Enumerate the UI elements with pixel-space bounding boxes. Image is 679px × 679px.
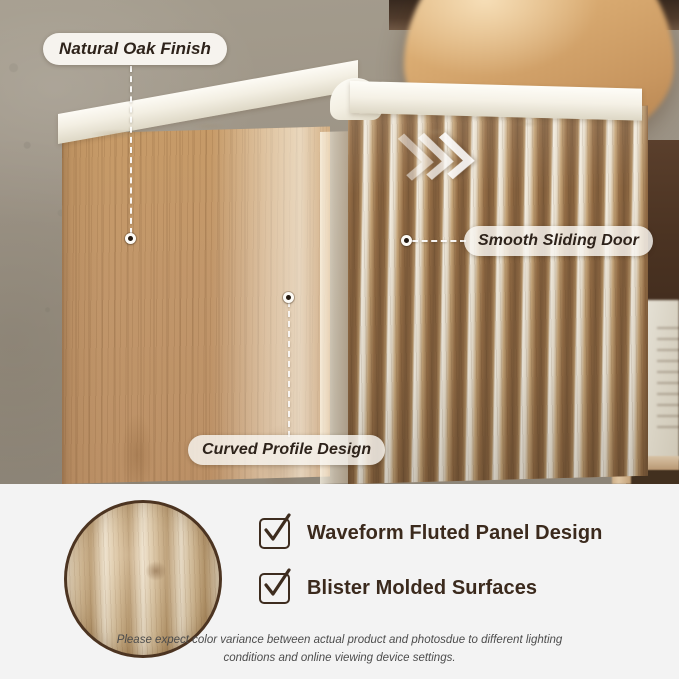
- callout-leader-line-door: [412, 240, 466, 242]
- color-variance-disclaimer: Please expect color variance between act…: [0, 632, 679, 668]
- product-feature-image: Natural Oak Finish Smooth Sliding Door C…: [0, 0, 679, 679]
- info-panel: Waveform Fluted Panel Design Blister Mol…: [0, 484, 679, 679]
- marble-countertop: [58, 94, 638, 152]
- check-icon: [259, 518, 290, 549]
- wood-knot: [120, 411, 154, 484]
- callout-label-smooth-sliding-door: Smooth Sliding Door: [464, 226, 653, 256]
- marble-veining: [58, 112, 638, 148]
- callout-label-curved-profile-design: Curved Profile Design: [188, 435, 385, 465]
- feature-label: Blister Molded Surfaces: [307, 577, 537, 600]
- slide-direction-arrows: [392, 130, 488, 177]
- feature-item: Blister Molded Surfaces: [259, 573, 602, 604]
- cabinet: [62, 96, 632, 484]
- callout-label-natural-oak-finish: Natural Oak Finish: [43, 33, 227, 65]
- feature-list: Waveform Fluted Panel Design Blister Mol…: [259, 518, 602, 628]
- callout-dot-curved: [283, 292, 294, 303]
- callout-leader-line-oak: [130, 66, 132, 234]
- callout-leader-line-curved: [288, 301, 290, 437]
- callout-dot-door: [401, 235, 412, 246]
- feature-item: Waveform Fluted Panel Design: [259, 518, 602, 549]
- product-photo: Natural Oak Finish Smooth Sliding Door C…: [0, 0, 679, 484]
- callout-dot-oak: [125, 233, 136, 244]
- check-icon: [259, 573, 290, 604]
- feature-label: Waveform Fluted Panel Design: [307, 522, 602, 545]
